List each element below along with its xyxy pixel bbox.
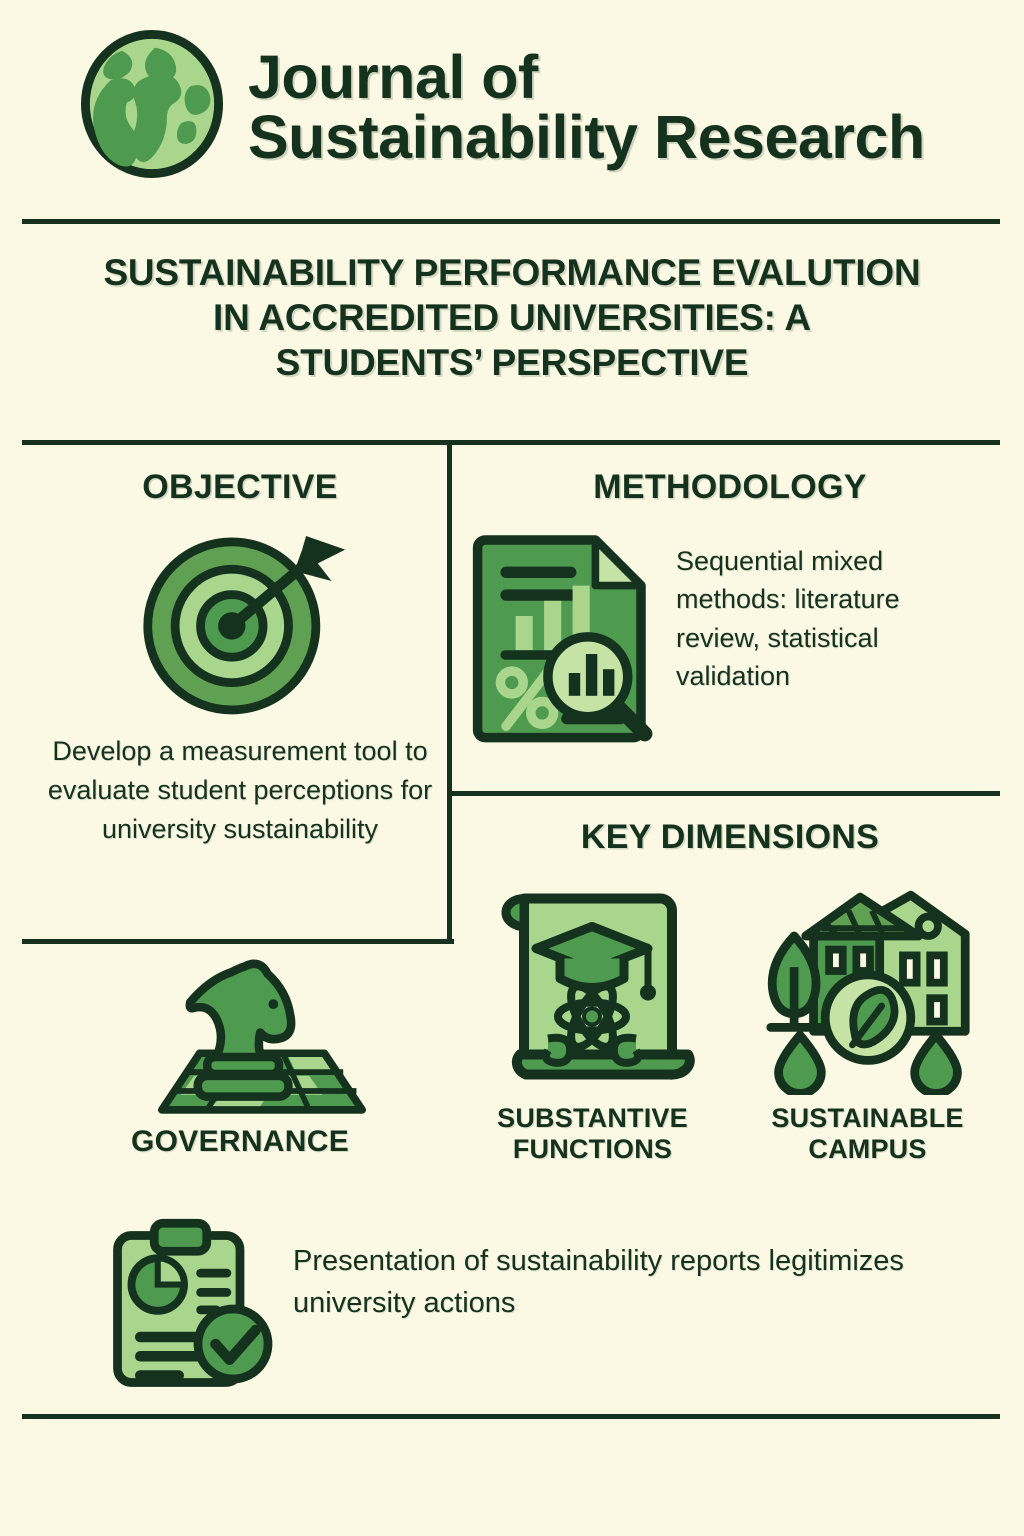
infographic-page: Journal of Sustainability Research SUSTA…: [0, 0, 1024, 1536]
scroll-graduation-atom-icon: [488, 880, 698, 1095]
methodology-description: Sequential mixed methods: literature rev…: [676, 520, 990, 695]
divider-vertical-center: [447, 443, 452, 943]
divider-under-title: [22, 440, 1000, 445]
divider-under-objective: [22, 939, 454, 944]
key-dimensions-heading: KEY DIMENSIONS: [470, 818, 990, 857]
objective-description: Develop a measurement tool to evaluate s…: [42, 732, 438, 849]
clipboard-check-icon: [100, 1218, 275, 1393]
page-title-line2: IN ACCREDITED UNIVERSITIES: A: [24, 295, 1000, 340]
key-dimension-label: SUSTAINABLE CAMPUS: [771, 1103, 963, 1166]
footer-note: Presentation of sustainability reports l…: [100, 1218, 920, 1393]
key-dimension-label-line2: CAMPUS: [771, 1134, 963, 1165]
objective-heading: OBJECTIVE: [40, 468, 440, 507]
page-title-line3: STUDENTS’ PERSPECTIVE: [24, 340, 1000, 385]
key-dimension-item: SUBSTANTIVE FUNCTIONS: [470, 880, 715, 1190]
key-dimensions-list: SUBSTANTIVE FUNCTIONS: [470, 880, 990, 1190]
green-building-leaf-icon: [763, 880, 973, 1095]
divider-methodology-keydimensions: [450, 791, 1000, 796]
journal-header: Journal of Sustainability Research: [0, 0, 1024, 215]
key-dimension-label-line1: SUBSTANTIVE: [497, 1103, 688, 1134]
journal-title-line1: Journal of: [248, 43, 538, 111]
key-dimension-label: SUBSTANTIVE FUNCTIONS: [497, 1103, 688, 1166]
divider-under-header: [22, 219, 1000, 224]
globe-icon: [78, 28, 226, 180]
target-arrow-icon: [138, 522, 353, 722]
footer-description: Presentation of sustainability reports l…: [293, 1218, 920, 1324]
key-dimension-label-line2: FUNCTIONS: [497, 1134, 688, 1165]
divider-bottom: [22, 1414, 1000, 1419]
governance-label: GOVERNANCE: [40, 1125, 440, 1159]
journal-title: Journal of Sustainability Research: [248, 48, 925, 168]
methodology-block: Sequential mixed methods: literature rev…: [470, 520, 990, 780]
report-magnifier-icon: [470, 526, 660, 744]
methodology-heading: METHODOLOGY: [470, 468, 990, 507]
page-title: SUSTAINABILITY PERFORMANCE EVALUTION IN …: [24, 250, 1000, 385]
key-dimension-item: SUSTAINABLE CAMPUS: [745, 880, 990, 1190]
chess-knight-board-icon: [110, 955, 380, 1125]
key-dimension-label-line1: SUSTAINABLE: [771, 1103, 963, 1134]
page-title-line1: SUSTAINABILITY PERFORMANCE EVALUTION: [24, 250, 1000, 295]
journal-title-line2: Sustainability Research: [248, 108, 925, 168]
